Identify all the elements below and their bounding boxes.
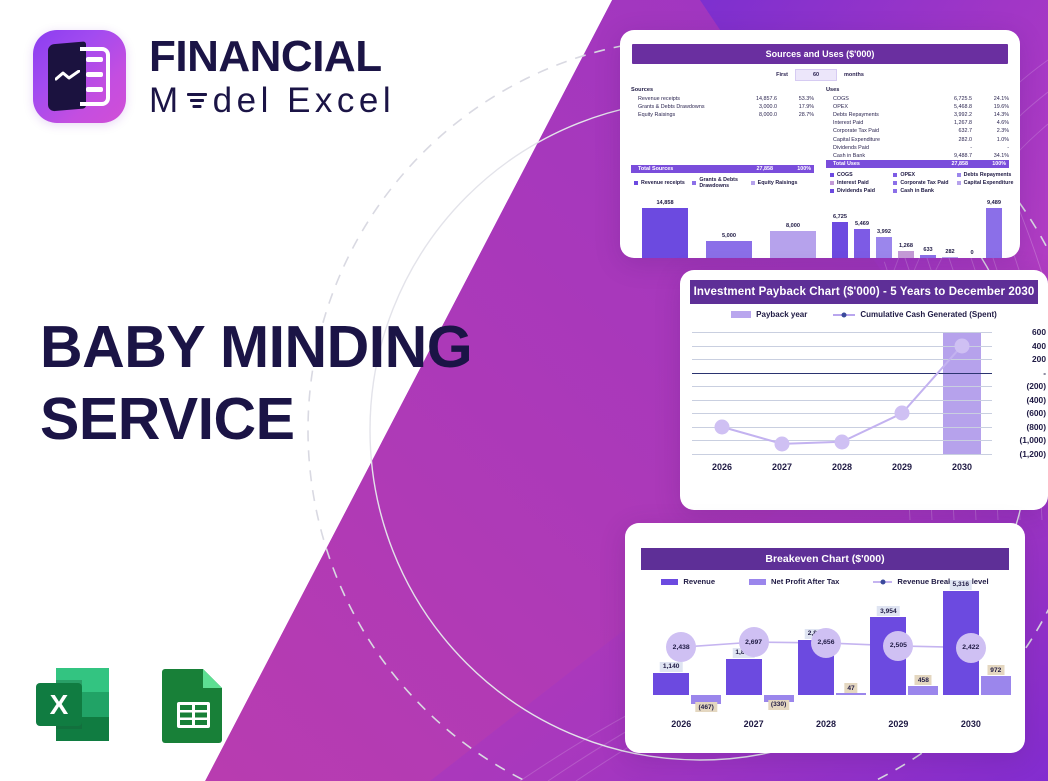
row-label: Interest Paid <box>826 119 932 127</box>
bar-value-label: 14,858 <box>656 200 673 206</box>
bar: 1,268 <box>898 251 914 258</box>
sources-total-row: Total Sources 27,858 100% <box>631 165 814 173</box>
data-point <box>775 436 790 451</box>
npat-value-label: (467) <box>695 702 716 712</box>
row-label: Capital Expenditure <box>826 135 932 143</box>
bar: 8,000 <box>770 231 816 258</box>
y-axis-tick-label: (400) <box>998 395 1046 405</box>
row-pct: - <box>972 144 1009 152</box>
row-value: 9,488.7 <box>932 152 972 160</box>
row-pct: 17.9% <box>777 103 814 111</box>
legend-swatch <box>833 314 855 316</box>
row-pct: 2.3% <box>972 127 1009 135</box>
sources-table: Revenue receipts 14,857.6 53.3% Grants &… <box>631 95 814 173</box>
bar: 282 <box>942 257 958 258</box>
bar-value-label: 0 <box>970 250 973 256</box>
bar: 633 <box>920 255 936 258</box>
breakeven-data-point: 2,656 <box>811 628 841 658</box>
period-months-input[interactable]: 60 <box>795 69 837 81</box>
stack-glyph-icon <box>184 88 210 114</box>
total-label: Total Uses <box>826 160 932 168</box>
payback-chart-title: Investment Payback Chart ($'000) - 5 Yea… <box>690 280 1038 304</box>
row-pct: 53.3% <box>777 95 814 103</box>
legend-item: Capital Expenditure <box>957 180 1020 186</box>
row-label: Equity Raisings <box>631 111 745 119</box>
breakeven-chart-title: Breakeven Chart ($'000) <box>641 548 1009 570</box>
row-label: OPEX <box>826 103 932 111</box>
data-point <box>895 406 910 421</box>
revenue-bar <box>653 673 689 695</box>
row-label: COGS <box>826 95 932 103</box>
legend-label: Payback year <box>756 310 807 319</box>
legend-swatch <box>749 579 766 585</box>
period-suffix-label: months <box>844 72 864 78</box>
total-pct: 100% <box>972 160 1009 168</box>
brand-subtitle-after: del Excel <box>213 83 396 118</box>
npat-value-label: 972 <box>987 665 1004 675</box>
y-axis-tick-label: 200 <box>998 354 1046 364</box>
row-pct: 14.3% <box>972 111 1009 119</box>
legend-label: Equity Raisings <box>758 180 798 186</box>
row-pct: 1.0% <box>972 135 1009 143</box>
y-axis-tick-label: (200) <box>998 381 1046 391</box>
x-axis-tick-label: 2028 <box>812 462 872 472</box>
legend-swatch <box>731 311 751 318</box>
uses-table: COGS 6,725.5 24.1% OPEX 5,468.8 19.6% De… <box>826 95 1009 168</box>
npat-bar <box>981 676 1011 695</box>
sources-and-uses-card: Sources and Uses ($'000) First 60 months… <box>620 30 1020 258</box>
legend-item: Revenue receipts <box>634 177 692 189</box>
legend-item: Debts Repayments <box>957 172 1020 178</box>
x-axis-tick-label: 2030 <box>935 719 1007 729</box>
svg-text:X: X <box>50 689 69 720</box>
table-row: Dividends Paid - - <box>826 144 1009 152</box>
x-axis-tick-label: 2030 <box>932 462 992 472</box>
x-axis-tick-label: 2026 <box>692 462 752 472</box>
y-axis-tick-label: (800) <box>998 422 1046 432</box>
legend-swatch <box>893 181 897 185</box>
bar-value-label: 282 <box>945 249 954 255</box>
legend-label: COGS <box>837 172 853 178</box>
table-row: Debts Repayments 3,992.2 14.3% <box>826 111 1009 119</box>
sources-header: Sources <box>631 87 814 93</box>
row-value: 6,725.5 <box>932 95 972 103</box>
uses-header: Uses <box>826 87 1009 93</box>
uses-bar-chart: 6,7255,4693,9921,26863328209,489 <box>828 192 1018 258</box>
legend-label: Capital Expenditure <box>964 180 1014 186</box>
breakeven-plot-area: 1,140(467)2,4381,848(330)2,6972,814472,6… <box>645 585 1007 707</box>
row-value: 632.7 <box>932 127 972 135</box>
table-row: Cash in Bank 9,488.7 34.1% <box>826 152 1009 160</box>
legend-item: Grants & Debts Drawdowns <box>692 177 750 189</box>
payback-y-axis: 600400200-(200)(400)(600)(800)(1,000)(1,… <box>998 332 1046 454</box>
row-value: 5,468.8 <box>932 103 972 111</box>
bar-value-label: 8,000 <box>786 223 800 229</box>
breakeven-data-point: 2,697 <box>739 627 769 657</box>
revenue-value-label: 3,954 <box>877 606 900 616</box>
legend-label: Cumulative Cash Generated (Spent) <box>860 310 996 319</box>
table-row: Equity Raisings 8,000.0 28.7% <box>631 111 814 119</box>
payback-plot-area <box>692 332 992 454</box>
page-title-line1: BABY MINDING <box>40 312 472 384</box>
legend-swatch <box>692 181 696 185</box>
brand-subtitle: M del Excel <box>149 83 395 118</box>
legend-label: Revenue receipts <box>641 180 685 186</box>
row-label: Corporate Tax Paid <box>826 127 932 135</box>
npat-value-label: (330) <box>768 700 789 710</box>
data-point <box>715 419 730 434</box>
legend-item: COGS <box>830 172 893 178</box>
app-icons: X <box>30 662 236 747</box>
bar: 3,992 <box>876 237 892 258</box>
legend-item: Corporate Tax Paid <box>893 180 956 186</box>
payback-x-axis: 20262027202820292030 <box>692 462 992 472</box>
y-axis-tick-label: 400 <box>998 341 1046 351</box>
legend-swatch <box>830 181 834 185</box>
table-row: Capital Expenditure 282.0 1.0% <box>826 135 1009 143</box>
chart-zigzag-icon <box>55 70 80 82</box>
legend-swatch <box>661 579 678 585</box>
table-row: Grants & Debts Drawdowns 3,000.0 17.9% <box>631 103 814 111</box>
bar-value-label: 5,000 <box>722 233 736 239</box>
legend-swatch <box>893 173 897 177</box>
breakeven-card: Breakeven Chart ($'000) Revenue Net Prof… <box>625 523 1025 753</box>
legend-swatch <box>634 181 638 185</box>
y-axis-tick-label: (600) <box>998 408 1046 418</box>
x-axis-tick-label: 2026 <box>645 719 717 729</box>
legend-swatch <box>830 173 834 177</box>
sources-bar-chart: 14,8585,0008,000 <box>636 192 816 258</box>
legend-swatch <box>751 181 755 185</box>
y-axis-tick-label: - <box>998 368 1046 378</box>
revenue-bar <box>726 659 762 695</box>
period-prefix-label: First <box>776 72 788 78</box>
legend-swatch <box>957 181 961 185</box>
x-axis-tick-label: 2029 <box>862 719 934 729</box>
row-label: Cash in Bank <box>826 152 932 160</box>
row-label: Grants & Debts Drawdowns <box>631 103 745 111</box>
row-value: 8,000.0 <box>745 111 777 119</box>
legend-label: OPEX <box>900 172 915 178</box>
x-axis-tick-label: 2029 <box>872 462 932 472</box>
breakeven-data-point: 2,438 <box>666 632 696 662</box>
row-value: 3,992.2 <box>932 111 972 119</box>
table-row: Revenue receipts 14,857.6 53.3% <box>631 95 814 103</box>
uses-total-row: Total Uses 27,858 100% <box>826 160 1009 168</box>
legend-item: OPEX <box>893 172 956 178</box>
breakeven-x-axis: 20262027202820292030 <box>645 719 1007 729</box>
row-pct: 4.6% <box>972 119 1009 127</box>
sources-and-uses-title: Sources and Uses ($'000) <box>632 44 1008 64</box>
period-selector[interactable]: First 60 months <box>620 69 1020 81</box>
bar: 6,725 <box>832 222 848 258</box>
microsoft-excel-icon: X <box>30 662 115 747</box>
total-pct: 100% <box>777 165 814 173</box>
legend-label: Interest Paid <box>837 180 869 186</box>
row-pct: 19.6% <box>972 103 1009 111</box>
total-value: 27,858 <box>745 165 777 173</box>
bar: 5,000 <box>706 241 752 258</box>
legend-label: Grants & Debts Drawdowns <box>699 177 750 189</box>
payback-chart-legend: Payback year Cumulative Cash Generated (… <box>680 310 1048 319</box>
google-sheets-icon <box>151 662 236 747</box>
financial-model-logo-icon <box>33 30 126 123</box>
row-value: - <box>932 144 972 152</box>
row-label: Dividends Paid <box>826 144 932 152</box>
bar-value-label: 6,725 <box>833 214 847 220</box>
row-label: Debts Repayments <box>826 111 932 119</box>
sources-chart-legend: Revenue receiptsGrants & Debts Drawdowns… <box>634 177 809 191</box>
bar-value-label: 633 <box>923 247 932 253</box>
bar: 5,469 <box>854 229 870 258</box>
legend-item-cumulative-cash: Cumulative Cash Generated (Spent) <box>833 310 996 319</box>
npat-value-label: 458 <box>915 675 932 685</box>
bar-value-label: 3,992 <box>877 229 891 235</box>
bar: 14,858 <box>642 208 688 258</box>
npat-bar <box>836 693 866 695</box>
page-title-line2: SERVICE <box>40 384 472 456</box>
page-title: BABY MINDING SERVICE <box>40 312 472 456</box>
poster-canvas: FINANCIAL M del Excel BABY MINDING SERVI… <box>0 0 1048 781</box>
legend-item: Equity Raisings <box>751 177 809 189</box>
total-value: 27,858 <box>932 160 972 168</box>
bar: 9,489 <box>986 208 1002 258</box>
breakeven-data-point: 2,422 <box>956 633 986 663</box>
table-row: COGS 6,725.5 24.1% <box>826 95 1009 103</box>
row-pct: 28.7% <box>777 111 814 119</box>
y-axis-tick-label: 600 <box>998 327 1046 337</box>
y-axis-tick-label: (1,000) <box>998 435 1046 445</box>
revenue-value-label: 1,140 <box>660 662 683 672</box>
table-row: Corporate Tax Paid 632.7 2.3% <box>826 127 1009 135</box>
bar-value-label: 9,489 <box>987 200 1001 206</box>
bar-value-label: 1,268 <box>899 243 913 249</box>
row-value: 1,267.8 <box>932 119 972 127</box>
legend-swatch <box>957 173 961 177</box>
row-pct: 34.1% <box>972 152 1009 160</box>
brand-title: FINANCIAL <box>149 35 395 79</box>
table-row: Interest Paid 1,267.8 4.6% <box>826 119 1009 127</box>
row-label: Revenue receipts <box>631 95 745 103</box>
data-point <box>955 338 970 353</box>
row-pct: 24.1% <box>972 95 1009 103</box>
investment-payback-card: Investment Payback Chart ($'000) - 5 Yea… <box>680 270 1048 510</box>
npat-bar <box>908 686 938 695</box>
revenue-value-label: 5,316 <box>950 580 973 590</box>
gridline <box>692 454 992 455</box>
brand-subtitle-before: M <box>149 83 183 118</box>
row-value: 282.0 <box>932 135 972 143</box>
y-axis-tick-label: (1,200) <box>998 449 1046 459</box>
uses-column: Uses COGS 6,725.5 24.1% OPEX 5,468.8 19.… <box>826 87 1009 173</box>
table-row: OPEX 5,468.8 19.6% <box>826 103 1009 111</box>
brand-logo: FINANCIAL M del Excel <box>33 30 395 123</box>
bar-value-label: 5,469 <box>855 221 869 227</box>
row-value: 14,857.6 <box>745 95 777 103</box>
x-axis-tick-label: 2027 <box>752 462 812 472</box>
x-axis-tick-label: 2028 <box>790 719 862 729</box>
total-label: Total Sources <box>631 165 745 173</box>
legend-item-payback-year: Payback year <box>731 310 807 319</box>
npat-value-label: 47 <box>844 683 857 693</box>
x-axis-tick-label: 2027 <box>717 719 789 729</box>
sources-column: Sources Revenue receipts 14,857.6 53.3% … <box>631 87 814 173</box>
legend-label: Debts Repayments <box>964 172 1012 178</box>
legend-label: Corporate Tax Paid <box>900 180 948 186</box>
data-point <box>835 434 850 449</box>
legend-item: Interest Paid <box>830 180 893 186</box>
legend-swatch <box>873 581 892 583</box>
row-value: 3,000.0 <box>745 103 777 111</box>
breakeven-data-point: 2,505 <box>883 631 913 661</box>
